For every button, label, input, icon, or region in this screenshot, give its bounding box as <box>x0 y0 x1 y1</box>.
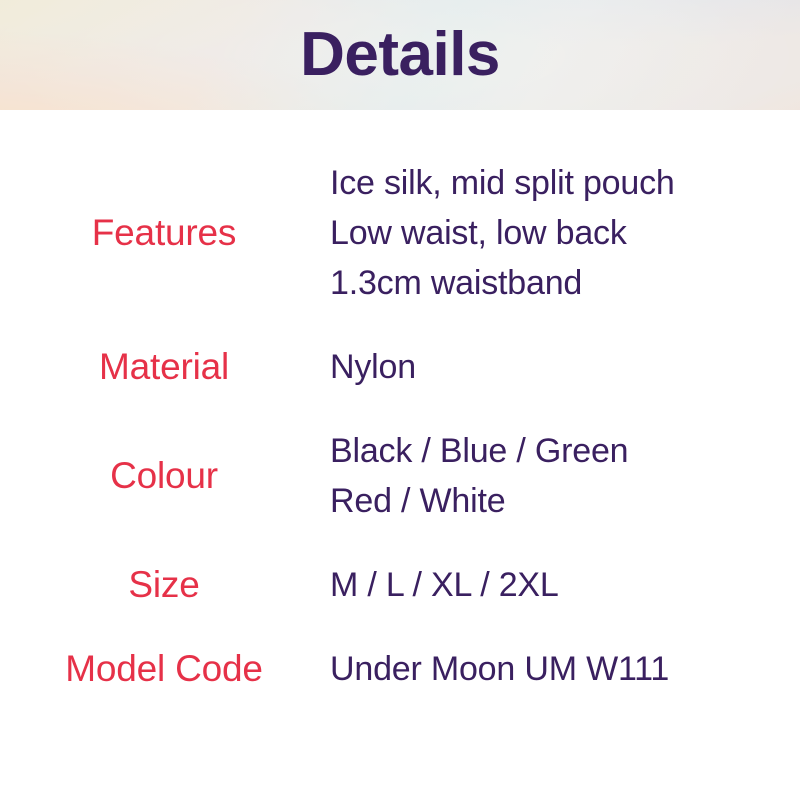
spec-label: Model Code <box>0 649 330 690</box>
spec-value-line: 1.3cm waistband <box>330 258 800 308</box>
spec-value: Nylon <box>330 342 800 392</box>
spec-row: SizeM / L / XL / 2XL <box>0 560 800 610</box>
spec-value-line: Black / Blue / Green <box>330 426 800 476</box>
spec-row: ColourBlack / Blue / GreenRed / White <box>0 426 800 526</box>
spec-value-line: Nylon <box>330 342 800 392</box>
spec-label: Size <box>0 565 330 606</box>
spec-row: Model CodeUnder Moon UM W111 <box>0 644 800 694</box>
spec-label: Material <box>0 347 330 388</box>
page-title: Details <box>0 0 800 110</box>
spec-value: Ice silk, mid split pouchLow waist, low … <box>330 158 800 308</box>
spec-value-line: M / L / XL / 2XL <box>330 560 800 610</box>
spec-value-line: Red / White <box>330 476 800 526</box>
spec-table: FeaturesIce silk, mid split pouchLow wai… <box>0 110 800 694</box>
spec-value: M / L / XL / 2XL <box>330 560 800 610</box>
spec-value-line: Under Moon UM W111 <box>330 644 800 694</box>
spec-value: Black / Blue / GreenRed / White <box>330 426 800 526</box>
spec-value: Under Moon UM W111 <box>330 644 800 694</box>
page-header: Details <box>0 0 800 110</box>
spec-label: Features <box>0 213 330 254</box>
spec-label: Colour <box>0 456 330 497</box>
spec-row: FeaturesIce silk, mid split pouchLow wai… <box>0 158 800 308</box>
spec-value-line: Ice silk, mid split pouch <box>330 158 800 208</box>
spec-row: MaterialNylon <box>0 342 800 392</box>
spec-value-line: Low waist, low back <box>330 208 800 258</box>
